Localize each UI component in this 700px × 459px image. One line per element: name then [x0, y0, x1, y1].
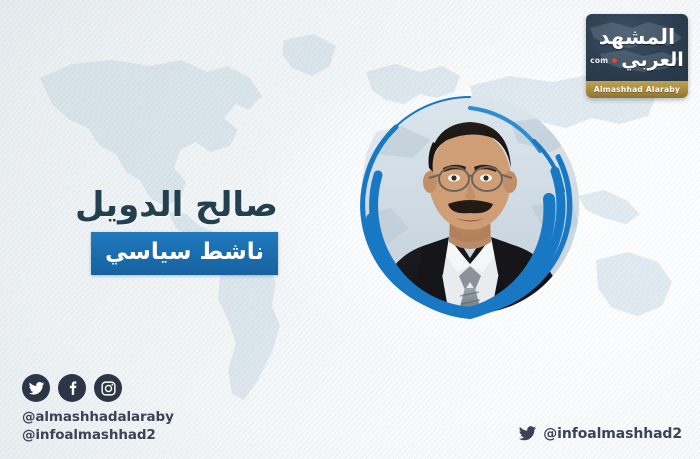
logo-second-row: العربي com — [586, 51, 688, 70]
twitter-bird-icon — [518, 424, 537, 443]
portrait-container — [344, 79, 596, 331]
logo-com-label: com — [590, 56, 608, 65]
logo-arabic-bottom: العربي — [621, 51, 684, 70]
footer-handle-text: @infoalmashhad2 — [543, 426, 682, 442]
subject-name-block: صالح الدويل ناشط سياسي — [0, 186, 286, 275]
logo-dot-icon — [612, 58, 617, 63]
instagram-icon[interactable] — [94, 374, 122, 402]
portrait-photo — [361, 96, 579, 314]
twitter-icon[interactable] — [22, 374, 50, 402]
facebook-icon[interactable] — [58, 374, 86, 402]
handle-secondary[interactable]: @infoalmashhad2 — [22, 427, 174, 445]
handle-primary[interactable]: @almashhadalaraby — [22, 409, 174, 427]
social-icon-row — [22, 374, 174, 402]
footer-twitter-handle[interactable]: @infoalmashhad2 — [518, 424, 682, 443]
brand-logo[interactable]: المشهد العربي com Almashhad Alaraby — [586, 14, 688, 98]
person-name: صالح الدويل — [0, 186, 286, 224]
logo-body: المشهد العربي com — [586, 14, 688, 81]
role-badge: ناشط سياسي — [91, 232, 278, 275]
logo-caption-band: Almashhad Alaraby — [586, 81, 688, 98]
logo-caption-text: Almashhad Alaraby — [594, 85, 680, 94]
social-block: @almashhadalaraby @infoalmashhad2 — [22, 374, 174, 445]
promo-card: المشهد العربي com Almashhad Alaraby صالح… — [0, 0, 700, 459]
logo-arabic-top: المشهد — [586, 27, 688, 48]
